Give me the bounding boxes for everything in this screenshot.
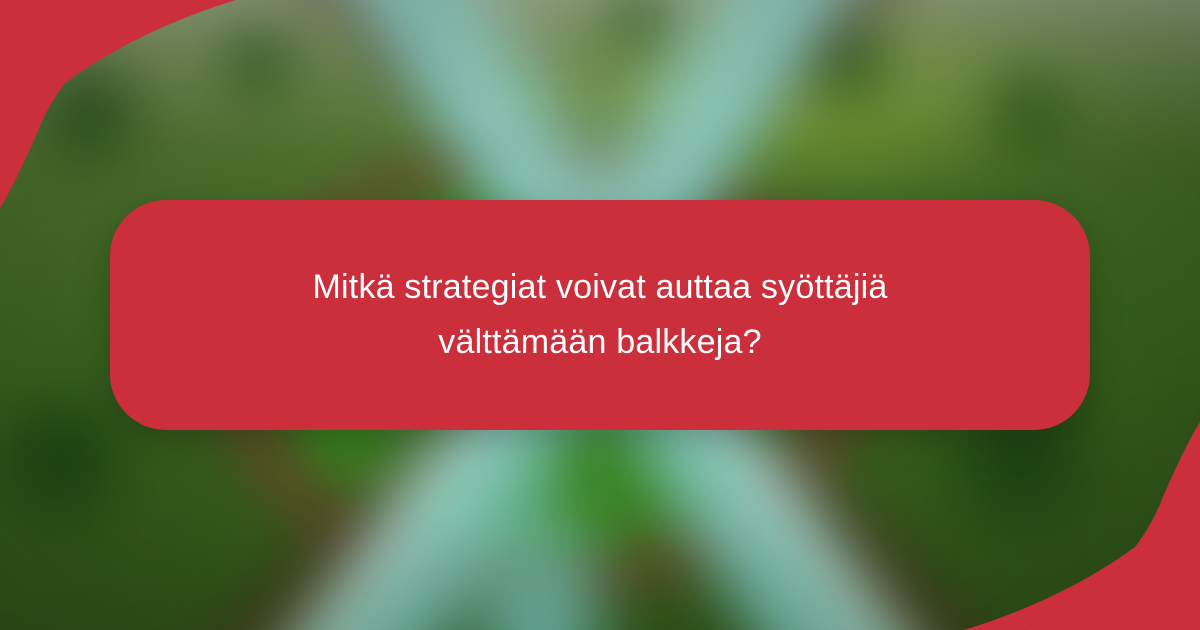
question-card: Mitkä strategiat voivat auttaa syöttäjiä…	[110, 200, 1090, 430]
question-text: Mitkä strategiat voivat auttaa syöttäjiä…	[250, 260, 950, 370]
share-card-canvas: Mitkä strategiat voivat auttaa syöttäjiä…	[0, 0, 1200, 630]
